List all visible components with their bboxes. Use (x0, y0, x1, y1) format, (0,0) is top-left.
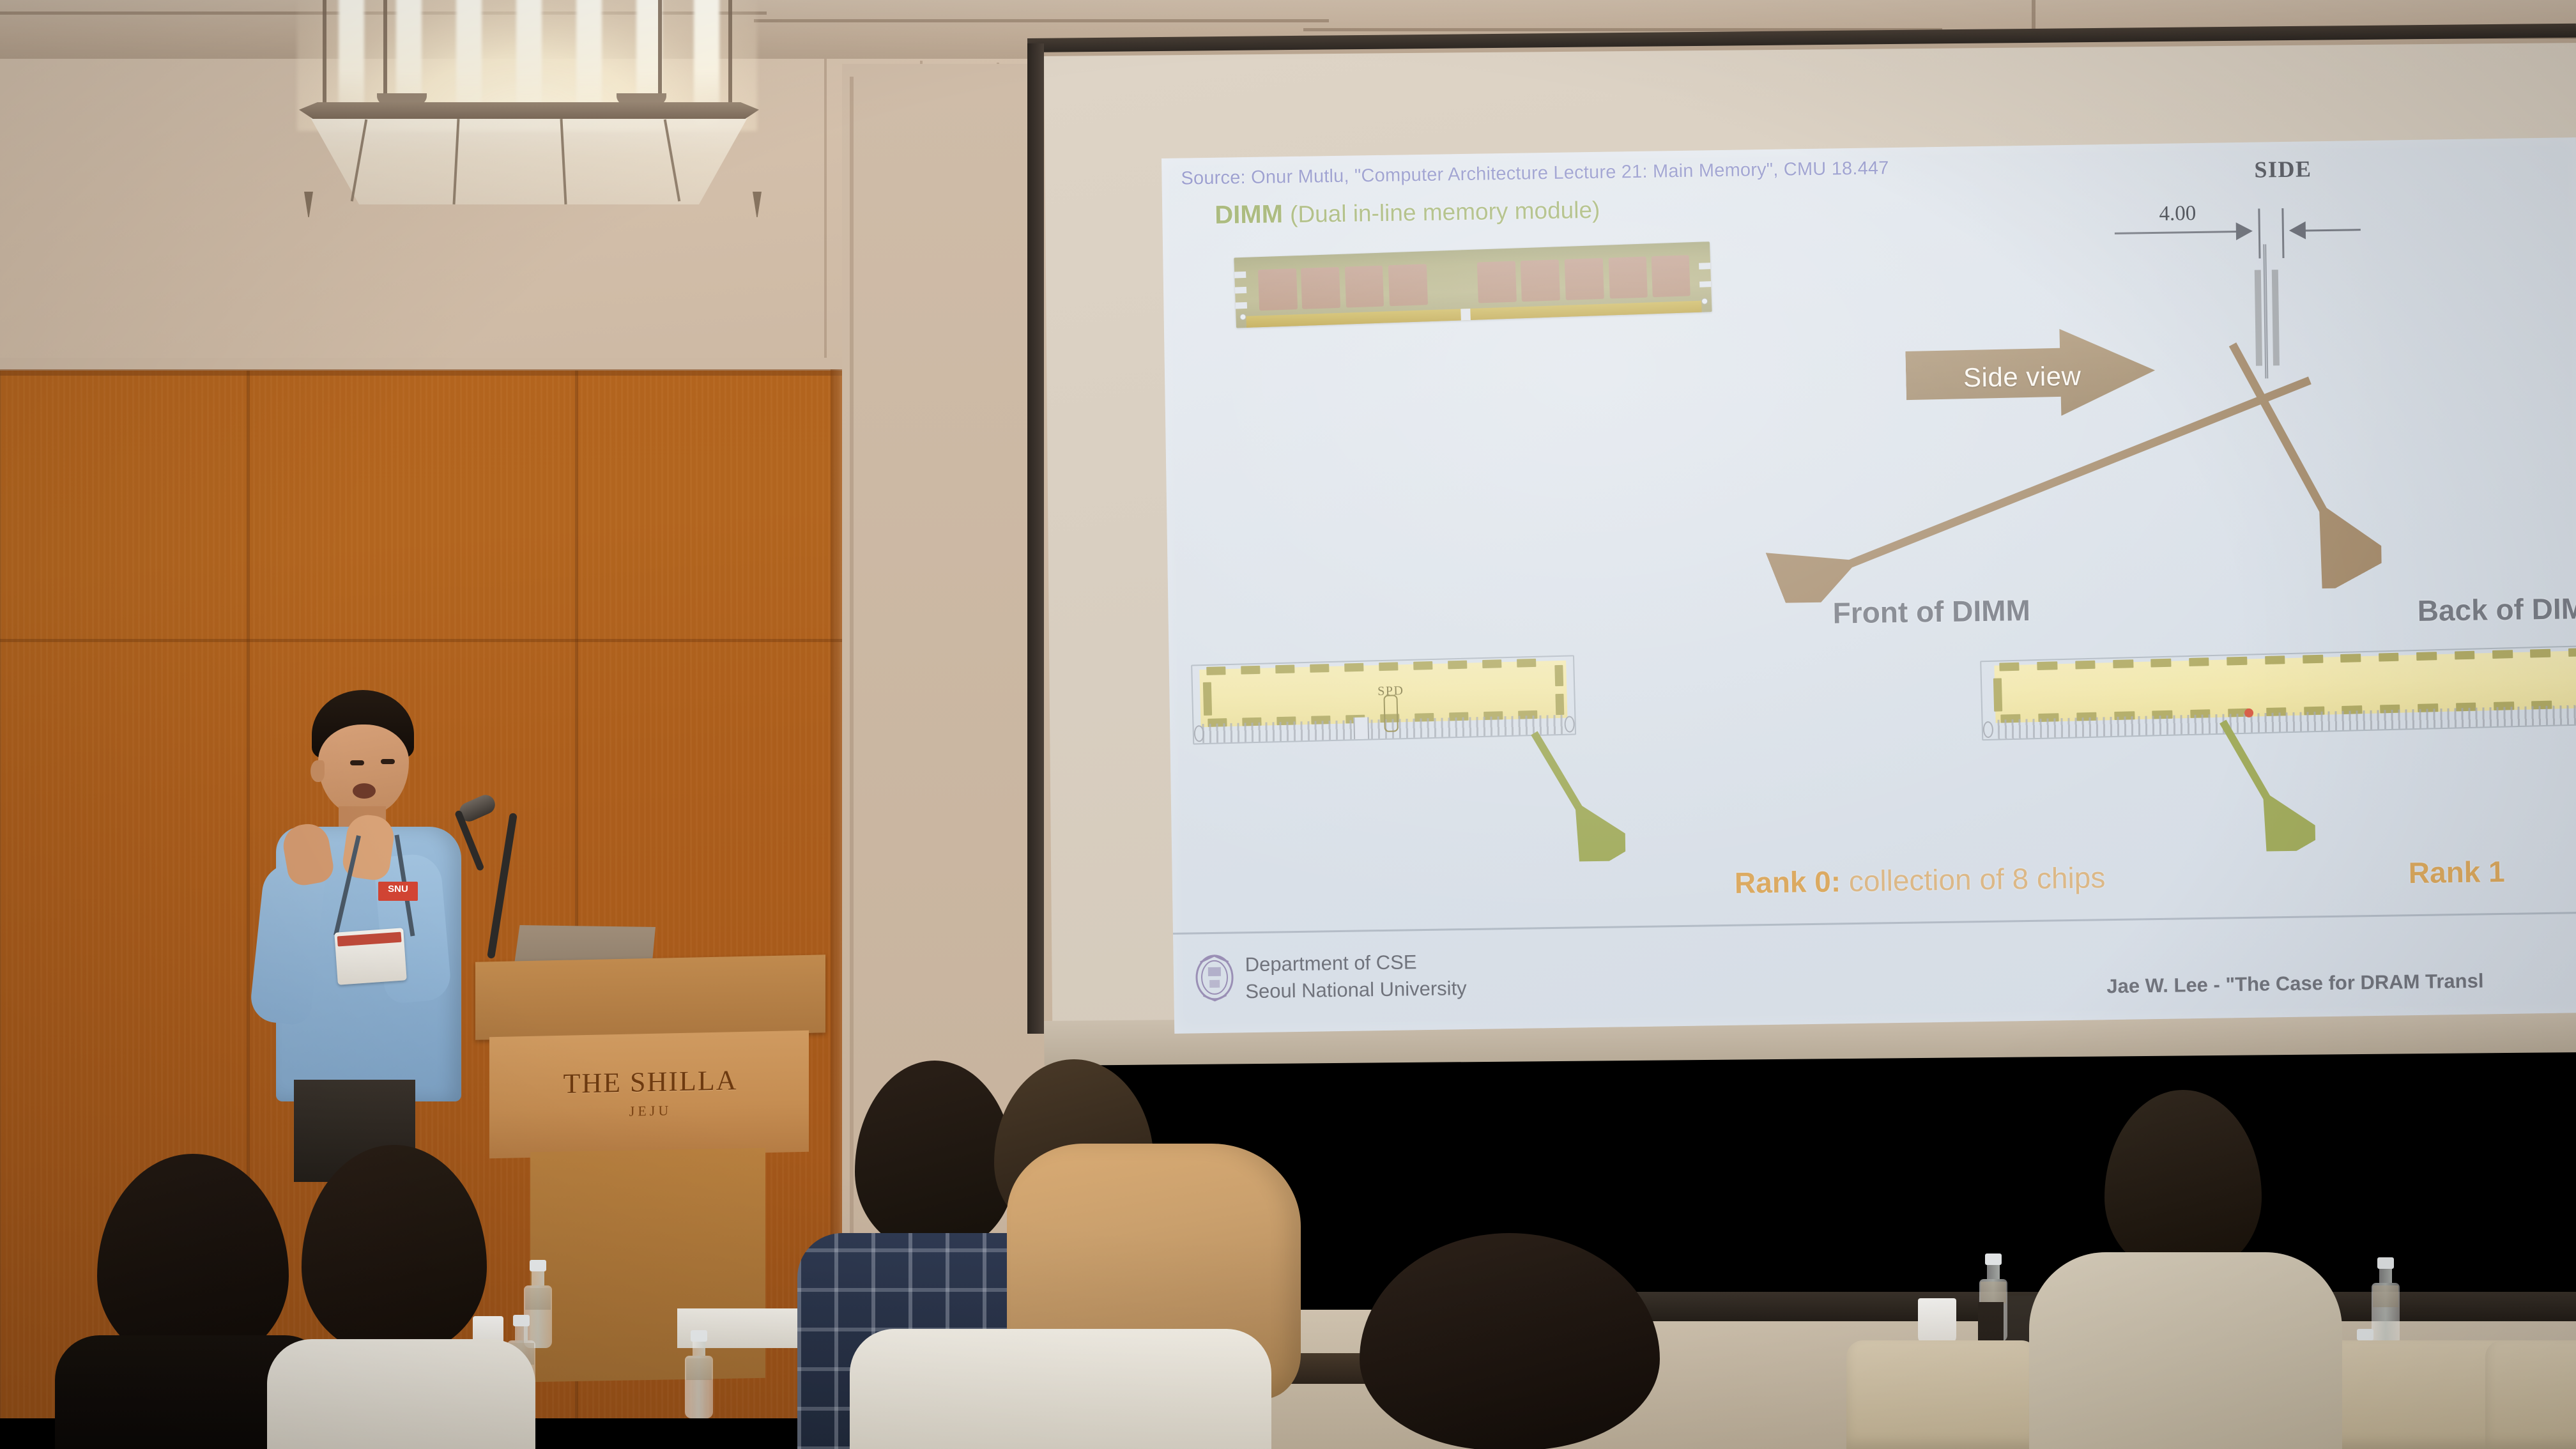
dimm-photo-notch (1460, 309, 1470, 320)
name-badge-band (337, 932, 402, 947)
drawing-chip-side (1554, 665, 1563, 686)
dimension-line-left (2115, 231, 2242, 234)
dimension-label: 4.00 (2159, 202, 2196, 226)
side-view-pcb (2263, 244, 2268, 378)
dimm-photo-chip (1258, 268, 1298, 310)
chandelier-rod (728, 0, 732, 109)
dimension-arrowhead-left (2236, 222, 2253, 240)
drawing-chip-top (2568, 648, 2576, 657)
drawing-chip-top (2037, 661, 2057, 670)
dimension-arrowhead-right (2289, 221, 2306, 239)
bottle-label (2373, 1285, 2398, 1307)
bottle-neck (693, 1342, 705, 1356)
bottle-neck (515, 1326, 528, 1340)
drawing-chip-top (2150, 658, 2171, 667)
drawing-chip-top (1413, 661, 1432, 670)
drawing-chip-top (1310, 664, 1329, 673)
drawing-chip-top (1517, 659, 1536, 668)
dimm-photo-chip (1608, 256, 1648, 298)
dimension-line-right (2304, 229, 2361, 231)
bottle-cap (1985, 1253, 2002, 1265)
snu-crest-icon (1193, 953, 1235, 1002)
bottle-cap (530, 1260, 546, 1271)
footer-university: Seoul National University (1245, 977, 1467, 1003)
wood-wall-top-edge (0, 369, 843, 376)
bottle-neck (1987, 1265, 2000, 1279)
slide-title: DIMM (Dual in-line memory module) (1215, 195, 1600, 230)
arrow-to-back-of-dimm (2225, 332, 2382, 590)
side-view-chip (2272, 270, 2280, 365)
slide-footer-divider (1173, 912, 2576, 935)
presenter-eye (350, 760, 364, 765)
lectern-brand-text: THE SHILLA (523, 1063, 778, 1101)
drawing-chip-top (1275, 664, 1294, 673)
dimm-photo-tab (1699, 281, 1711, 287)
rank0-pointer-arrow (1528, 726, 1625, 862)
drawing-chip-top (2492, 650, 2513, 659)
dimm-photo-chip (1345, 265, 1384, 307)
drawing-chip-top (2265, 655, 2285, 664)
bottle-label (525, 1288, 551, 1310)
shirt-logo-text: SNU (379, 884, 417, 894)
drawing-chip-top (2379, 652, 2399, 661)
drawing-chip-side (1993, 678, 2002, 712)
drawing-chip-top (1482, 659, 1501, 668)
drawing-chip-top (2075, 660, 2096, 669)
side-heading: SIDE (2254, 155, 2312, 183)
drawing-chip-top (1448, 660, 1467, 669)
back-of-dimm-label: Back of DIMM (2417, 590, 2576, 627)
rank0-caption-bold: Rank 0: (1735, 864, 1841, 899)
drawing-chip-top (2113, 659, 2133, 668)
dimm-photo-chip (1301, 267, 1340, 309)
presenter-ear (310, 760, 325, 782)
drawing-chip-top (1241, 666, 1260, 675)
drawing-chip-top (2227, 656, 2247, 665)
drawing-chip-top (2416, 652, 2437, 661)
presenter-eye (381, 759, 395, 764)
dimm-photo-chip (1477, 261, 1517, 303)
footer-talk-credit: Jae W. Lee - "The Case for DRAM Transl (2106, 969, 2484, 998)
rank0-caption-rest: collection of 8 chips (1841, 861, 2106, 898)
dimm-photo-chip (1565, 258, 1604, 300)
audience-torso (850, 1329, 1271, 1449)
audience-torso (2029, 1252, 2342, 1449)
name-badge (334, 928, 406, 985)
rank0-caption: Rank 0: collection of 8 chips (1735, 860, 2106, 900)
side-view-chip (2255, 270, 2262, 365)
bottle-cap (2357, 1329, 2373, 1340)
projected-slide: Source: Onur Mutlu, "Computer Architectu… (1161, 137, 2576, 1034)
bottle-cap (513, 1315, 530, 1326)
drawing-chip-side (1555, 694, 1564, 715)
dimm-photo-tab (1236, 302, 1247, 309)
drawing-chip-top (1344, 663, 1363, 671)
dimm-photo-chip (1651, 255, 1690, 297)
front-of-dimm-drawing: SPD (1191, 655, 1576, 744)
wood-seam (0, 639, 843, 642)
drawing-chip-top (2340, 654, 2361, 663)
audience-head (2104, 1090, 2262, 1275)
slide-source-citation: Source: Onur Mutlu, "Computer Architectu… (1181, 152, 2267, 189)
presenter-mouth (353, 783, 376, 799)
dimm-photo-chip (1388, 264, 1428, 306)
drawing-notch (1353, 717, 1369, 740)
audience-head (1360, 1233, 1660, 1449)
drawing-chip-top (2530, 648, 2550, 657)
banquet-chair (1846, 1340, 2038, 1449)
drawing-chip-top (2455, 650, 2475, 659)
lectern-top (475, 954, 825, 1039)
drawing-chip-top (2303, 654, 2323, 663)
presenter-face (318, 724, 409, 815)
dimm-photograph (1234, 241, 1712, 328)
rank1-caption: Rank 1 (2408, 854, 2505, 890)
drawing-chip-side (1203, 682, 1212, 716)
water-bottle (685, 1330, 713, 1418)
bottle-neck (532, 1271, 544, 1285)
side-view-arrow-label: Side view (1933, 360, 2112, 394)
banquet-chair (2485, 1340, 2576, 1449)
audience-torso (267, 1339, 535, 1449)
footer-department: Department of CSE (1245, 951, 1416, 976)
spd-chip-outline (1383, 694, 1398, 732)
bottle-label (686, 1358, 712, 1380)
bottle-cap (691, 1330, 707, 1342)
front-of-dimm-label: Front of DIMM (1832, 593, 2030, 631)
drawing-chip-top (1379, 662, 1398, 671)
slide-title-bold: DIMM (1215, 200, 1283, 229)
dimm-photo-tab (1699, 263, 1710, 269)
chandelier-metal-rim (299, 102, 759, 119)
bottle-body (685, 1356, 713, 1418)
rank1-pointer-arrow (2218, 716, 2315, 852)
dimm-photo-chip (1521, 259, 1560, 302)
bottle-neck (2379, 1269, 2392, 1283)
drawing-mount-hole (1194, 725, 1205, 742)
drawing-chip-top (2189, 657, 2209, 666)
bottle-label (1981, 1282, 2006, 1303)
dimm-photo-tab (1234, 272, 1246, 278)
conference-room-photo: Source: Onur Mutlu, "Computer Architectu… (0, 0, 2576, 1449)
chandelier-glass-shade (305, 109, 753, 204)
extension-line (2281, 208, 2284, 258)
chandelier-rod (323, 0, 326, 115)
drawing-chip-top (1206, 666, 1225, 675)
bottle-cap (2377, 1257, 2394, 1269)
ceiling-seam (754, 19, 1329, 22)
coffee-cup (1918, 1298, 1956, 1344)
dimm-photo-tab (1235, 287, 1246, 293)
drawing-chip-top (1999, 662, 2020, 671)
extension-line (2258, 209, 2260, 259)
slide-title-rest: (Dual in-line memory module) (1290, 197, 1600, 227)
wall-strip-seam (850, 77, 854, 1386)
projection-screen-frame-left (1027, 43, 1044, 1034)
